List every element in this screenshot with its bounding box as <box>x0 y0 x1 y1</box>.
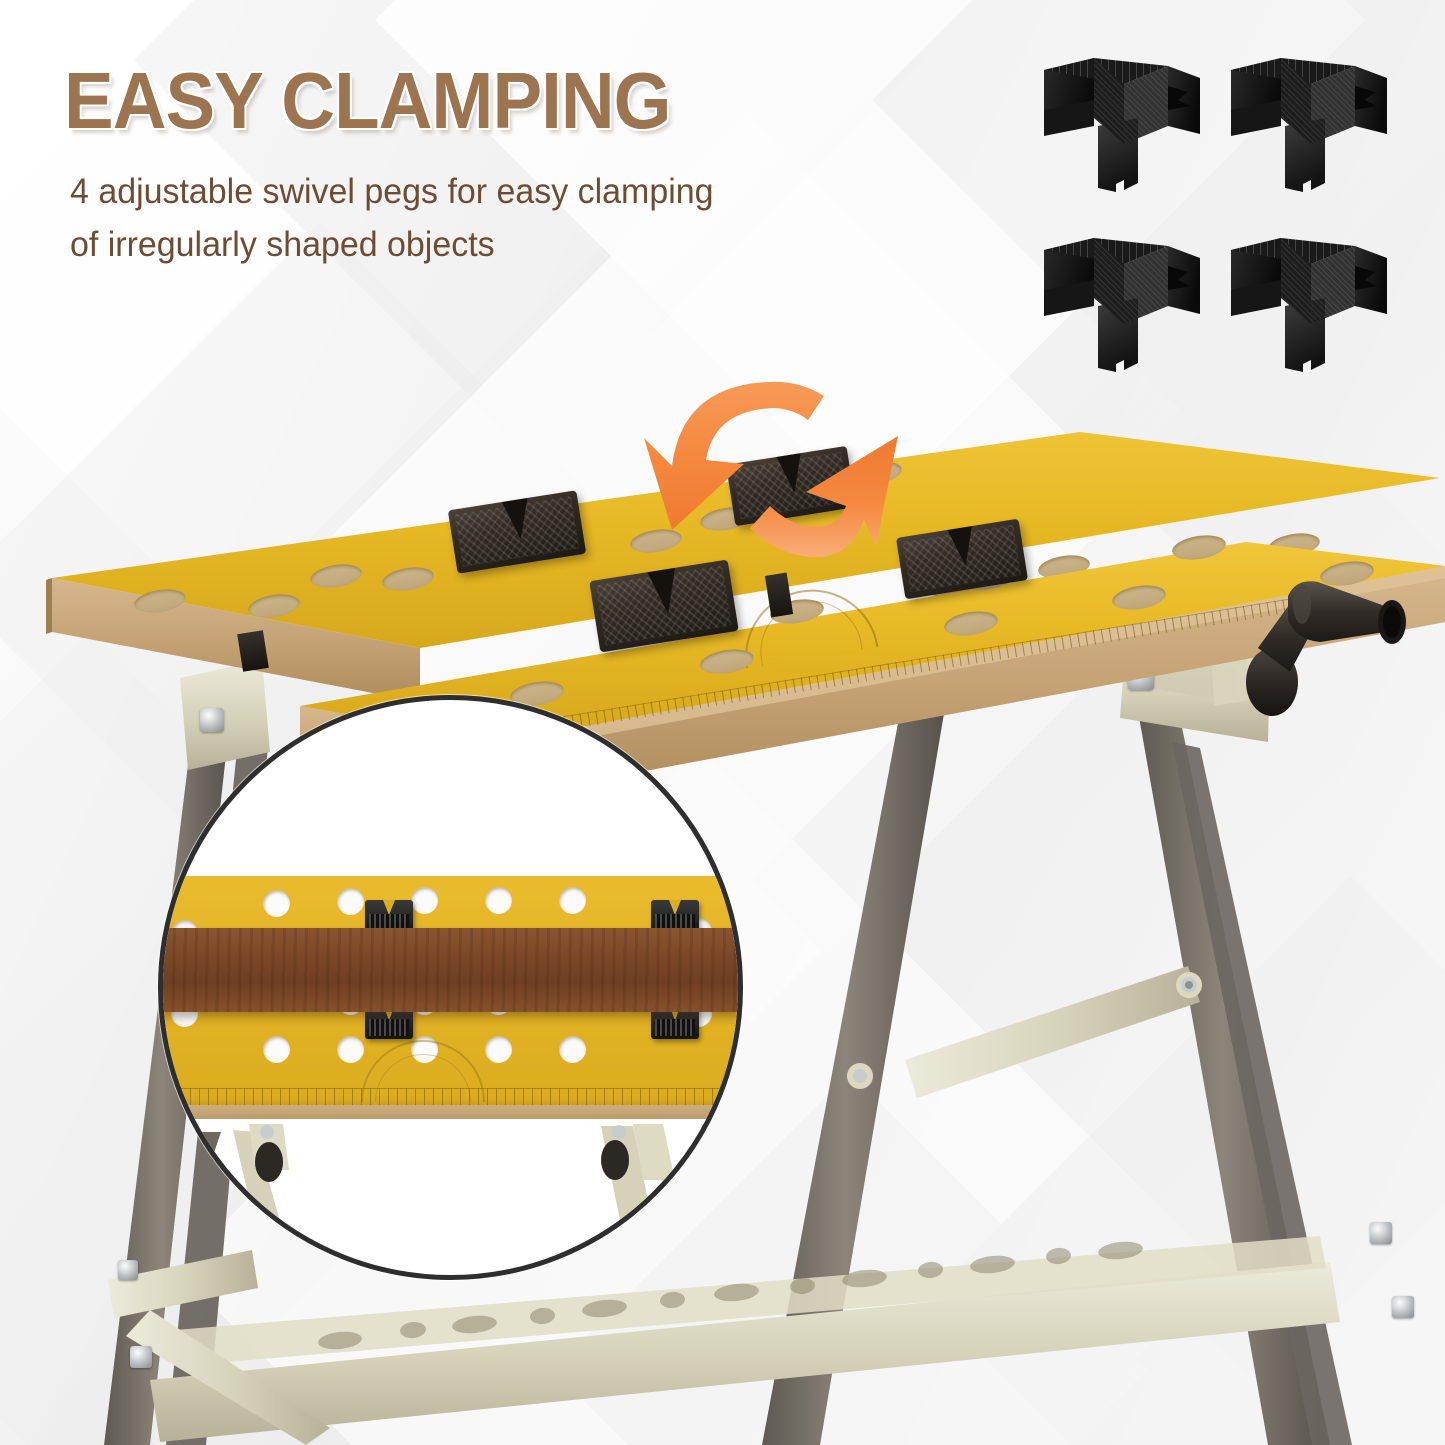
clamped-wood-plank <box>158 928 741 1012</box>
product-infographic: EASY CLAMPING 4 adjustable swivel pegs f… <box>0 0 1445 1445</box>
workbench-product-photo <box>0 0 1445 1445</box>
clamping-detail-closeup <box>158 695 743 1280</box>
